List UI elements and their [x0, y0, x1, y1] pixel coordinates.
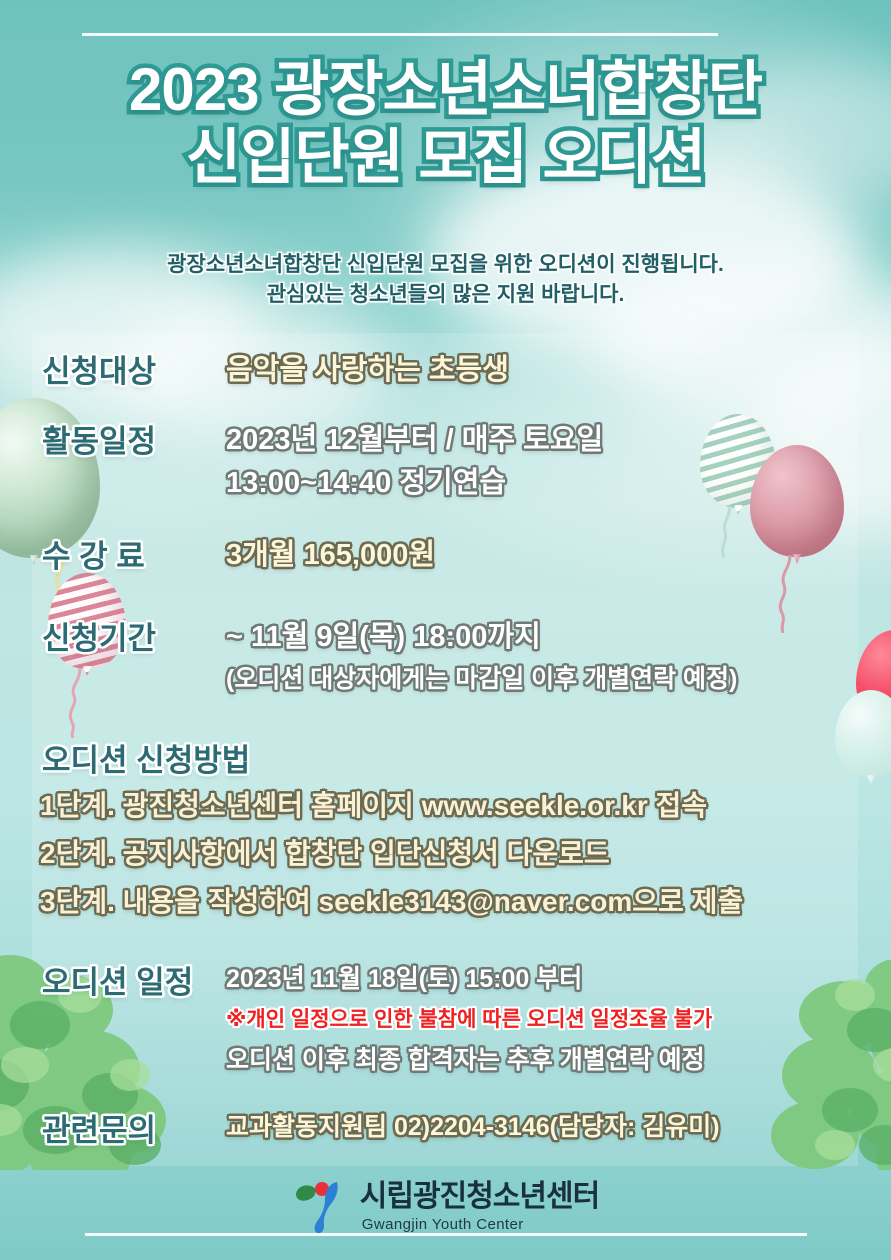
label-target: 신청대상 — [42, 352, 214, 392]
row-contact: 관련문의 교과활동지원팀 02)2204-3146(담당자: 김유미) — [42, 1111, 720, 1151]
value-apply-period-line-2: (오디션 대상자에게는 마감일 이후 개별연락 예정) — [226, 663, 737, 696]
row-schedule: 활동일정 2023년 12월부터 / 매주 토요일 13:00~14:40 정기… — [0, 422, 891, 503]
row-audition-date: 오디션 일정 2023년 11월 18일(토) 15:00 부터 ※개인 일정으… — [42, 963, 712, 1076]
subtitle-line-1: 광장소년소녀합창단 신입단원 모집을 위한 오디션이 진행됩니다. — [0, 250, 891, 280]
info-rows: 신청대상 음악을 사랑하는 초등생 활동일정 2023년 12월부터 / 매주 … — [0, 352, 891, 696]
audition-warning-note: ※개인 일정으로 인한 불참에 따른 오디션 일정조율 불가 — [226, 1007, 712, 1033]
value-schedule-line-1: 2023년 12월부터 / 매주 토요일 — [226, 422, 603, 460]
how-to-apply-heading: 오디션 신청방법 — [42, 735, 250, 780]
value-contact: 교과활동지원팀 02)2204-3146(담당자: 김유미) — [226, 1111, 720, 1144]
how-to-apply-steps: 1단계. 광진청소년센터 홈페이지 www.seekle.or.kr 접속 2단… — [40, 792, 880, 936]
balloon-mint-icon — [835, 690, 891, 778]
step-2: 2단계. 공지사항에서 합창단 입단신청서 다운로드 — [40, 840, 880, 868]
label-fee: 수 강 료 — [42, 537, 214, 577]
label-contact: 관련문의 — [42, 1111, 214, 1151]
poster-subtitle: 광장소년소녀합창단 신입단원 모집을 위한 오디션이 진행됩니다. 관심있는 청… — [0, 250, 891, 310]
value-schedule-line-2: 13:00~14:40 정기연습 — [226, 465, 603, 503]
foliage-right-decoration — [745, 960, 891, 1170]
row-target: 신청대상 음악을 사랑하는 초등생 — [0, 352, 891, 392]
org-name-en: Gwangjin Youth Center — [362, 1216, 524, 1233]
value-audition-date-line-1: 2023년 11월 18일(토) 15:00 부터 — [226, 963, 712, 996]
poster-canvas: 2023 광장소년소녀합창단 신입단원 모집 오디션 광장소년소녀합창단 신입단… — [0, 0, 891, 1260]
footer-logo: 시립광진청소년센터 Gwangjin Youth Center — [0, 1178, 891, 1236]
title-line-1: 2023 광장소년소녀합창단 — [0, 56, 891, 124]
row-fee: 수 강 료 3개월 165,000원 — [0, 537, 891, 577]
step-3: 3단계. 내용을 작성하여 seekle3143@naver.com으로 제출 — [40, 888, 880, 916]
gwangjin-logo-icon — [292, 1178, 346, 1236]
label-audition-date: 오디션 일정 — [42, 963, 214, 1003]
top-divider-line — [82, 33, 718, 36]
value-audition-date-line-2: 오디션 이후 최종 합격자는 추후 개별연락 예정 — [226, 1044, 712, 1077]
page-title: 2023 광장소년소녀합창단 신입단원 모집 오디션 — [0, 56, 891, 192]
label-apply-period: 신청기간 — [42, 619, 214, 659]
value-target: 음악을 사랑하는 초등생 — [226, 352, 509, 390]
label-schedule: 활동일정 — [42, 422, 214, 462]
subtitle-line-2: 관심있는 청소년들의 많은 지원 바랍니다. — [0, 280, 891, 310]
footer-logo-text: 시립광진청소년센터 Gwangjin Youth Center — [360, 1181, 599, 1233]
title-line-2: 신입단원 모집 오디션 — [0, 124, 891, 192]
step-1: 1단계. 광진청소년센터 홈페이지 www.seekle.or.kr 접속 — [40, 792, 880, 820]
org-name-kr: 시립광진청소년센터 — [360, 1181, 599, 1213]
value-fee: 3개월 165,000원 — [226, 537, 435, 575]
value-apply-period-line-1: ~ 11월 9일(목) 18:00까지 — [226, 619, 737, 657]
row-apply-period: 신청기간 ~ 11월 9일(목) 18:00까지 (오디션 대상자에게는 마감일… — [0, 619, 891, 696]
